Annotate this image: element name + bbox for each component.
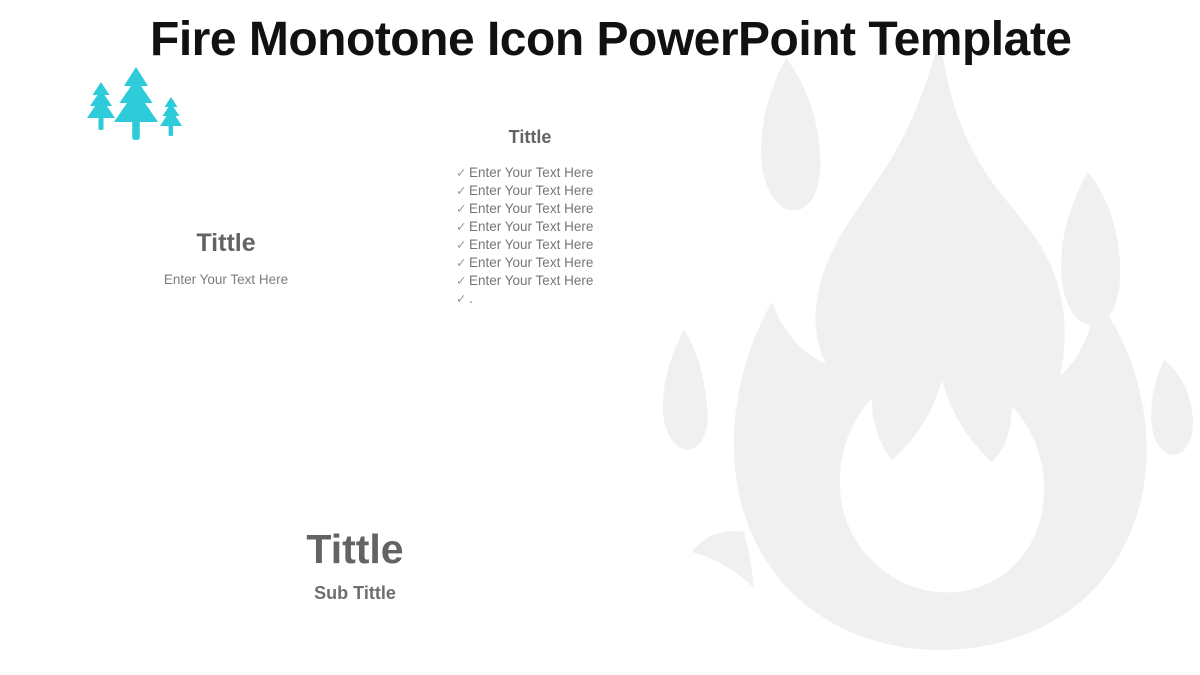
slide-canvas: Fire Monotone Icon PowerPoint Template	[0, 0, 1200, 675]
list-item[interactable]: ✓Enter Your Text Here	[456, 200, 640, 218]
check-icon: ✓	[456, 182, 469, 200]
check-icon: ✓	[456, 200, 469, 218]
bottom-block-title: Tittle	[205, 528, 505, 571]
left-block-title: Tittle	[76, 230, 376, 258]
check-icon: ✓	[456, 290, 469, 308]
bottom-text-block: Tittle Sub Tittle	[205, 528, 505, 605]
check-icon: ✓	[456, 164, 469, 182]
list-item-label: .	[469, 290, 473, 308]
list-item[interactable]: ✓Enter Your Text Here	[456, 272, 640, 290]
pine-tree-small-left	[87, 82, 115, 130]
list-item-label: Enter Your Text Here	[469, 200, 593, 218]
list-item-label: Enter Your Text Here	[469, 218, 593, 236]
list-item[interactable]: ✓Enter Your Text Here	[456, 182, 640, 200]
left-text-block: Tittle Enter Your Text Here	[76, 230, 376, 288]
check-icon: ✓	[456, 218, 469, 236]
list-item[interactable]: ✓Enter Your Text Here	[456, 218, 640, 236]
list-item-label: Enter Your Text Here	[469, 272, 593, 290]
check-icon: ✓	[456, 236, 469, 254]
checklist: ✓Enter Your Text Here✓Enter Your Text He…	[420, 164, 640, 308]
list-item-label: Enter Your Text Here	[469, 164, 593, 182]
pine-trees-icon	[84, 66, 188, 146]
list-item[interactable]: ✓Enter Your Text Here	[456, 254, 640, 272]
list-item[interactable]: ✓Enter Your Text Here	[456, 236, 640, 254]
pine-tree-large-center	[114, 67, 158, 140]
list-item-label: Enter Your Text Here	[469, 182, 593, 200]
fire-flame-icon	[640, 30, 1200, 650]
list-item-label: Enter Your Text Here	[469, 236, 593, 254]
list-item[interactable]: ✓Enter Your Text Here	[456, 164, 640, 182]
bottom-block-subtitle: Sub Tittle	[205, 583, 505, 605]
center-block-title: Tittle	[420, 128, 640, 148]
list-item[interactable]: ✓.	[456, 290, 640, 308]
pine-tree-small-right	[160, 97, 182, 136]
check-icon: ✓	[456, 254, 469, 272]
list-item-label: Enter Your Text Here	[469, 254, 593, 272]
check-icon: ✓	[456, 272, 469, 290]
page-title: Fire Monotone Icon PowerPoint Template	[150, 12, 1072, 67]
left-block-subtitle: Enter Your Text Here	[76, 272, 376, 288]
center-checklist-block: Tittle ✓Enter Your Text Here✓Enter Your …	[420, 128, 640, 308]
